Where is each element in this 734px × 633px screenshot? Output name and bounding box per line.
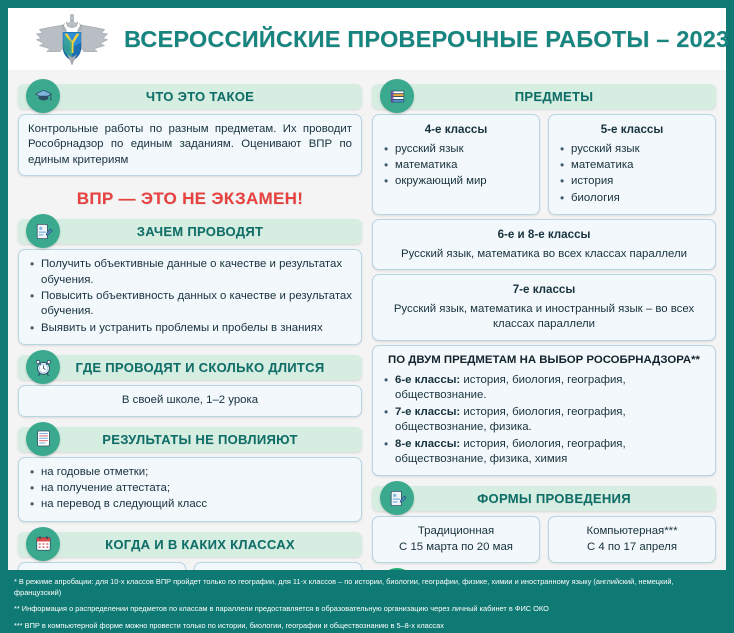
where-text: В своей школе, 1–2 урока (28, 393, 352, 408)
section-title: ЧТО ЭТО ТАКОЕ (120, 89, 260, 104)
section-title: ПРЕДМЕТЫ (489, 89, 600, 104)
list-item: Получить объективные данные о качестве и… (28, 257, 352, 288)
document-pencil-icon (26, 214, 60, 248)
section-subjects: ПРЕДМЕТЫ (372, 84, 716, 109)
forms-cards: Традиционная С 15 марта по 20 мая Компью… (372, 516, 716, 567)
section-title: РЕЗУЛЬТАТЫ НЕ ПОВЛИЯЮТ (76, 432, 304, 447)
list-item: русский язык (558, 142, 706, 157)
what-is-card: Контрольные работы по разным предметам. … (18, 114, 362, 176)
footnote-2: ** Информация о распределении предметов … (14, 604, 720, 615)
form-line2: С 4 по 17 апреля (558, 540, 706, 555)
clipboard-list-icon (26, 422, 60, 456)
list-item: история (558, 174, 706, 189)
grade5-list: русский язык математика история биология (558, 142, 706, 207)
choice-grade: 7-е классы: (395, 406, 460, 418)
choice-list: 6-е классы: история, биология, география… (382, 373, 706, 467)
list-item: биология (558, 191, 706, 206)
poster-header: ВСЕРОССИЙСКИЕ ПРОВЕРОЧНЫЕ РАБОТЫ – 2023 (8, 8, 726, 70)
form-card: Традиционная С 15 марта по 20 мая (372, 516, 540, 563)
poster-root: ВСЕРОССИЙСКИЕ ПРОВЕРОЧНЫЕ РАБОТЫ – 2023 … (0, 0, 734, 633)
list-item: на получение аттестата; (28, 481, 352, 496)
section-why: ЗАЧЕМ ПРОВОДЯТ (18, 219, 362, 244)
footnote-3: *** ВПР в компьютерной форме можно прове… (14, 621, 720, 632)
poster-body: ЧТО ЭТО ТАКОЕ Контрольные работы по разн… (8, 70, 726, 633)
footnotes: * В режиме апробации: для 10-х классов В… (0, 570, 734, 633)
section-when: КОГДА И В КАКИХ КЛАССАХ (18, 532, 362, 557)
grade7-heading: 7-е классы (382, 282, 706, 298)
list-item: математика (382, 158, 530, 173)
choice-grade: 6-е классы: (395, 374, 460, 386)
subjects-grade-cards: 4-е классы русский язык математика окруж… (372, 114, 716, 219)
grade68-text: Русский язык, математика во всех классах… (382, 247, 706, 262)
page-title: ВСЕРОССИЙСКИЕ ПРОВЕРОЧНЫЕ РАБОТЫ – 2023 (124, 26, 729, 53)
list-item: 7-е классы: история, биология, география… (382, 405, 706, 436)
grade68-card: 6-е и 8-е классы Русский язык, математик… (372, 219, 716, 270)
section-forms: ФОРМЫ ПРОВЕДЕНИЯ (372, 486, 716, 511)
section-title: ФОРМЫ ПРОВЕДЕНИЯ (451, 491, 637, 506)
alarm-clock-icon (26, 350, 60, 384)
section-title: ЗАЧЕМ ПРОВОДЯТ (111, 224, 270, 239)
grade7-text: Русский язык, математика и иностранный я… (382, 302, 706, 333)
choice-title: ПО ДВУМ ПРЕДМЕТАМ НА ВЫБОР РОСОБРНАДЗОРА… (382, 353, 706, 368)
section-title: КОГДА И В КАКИХ КЛАССАХ (79, 537, 301, 552)
what-is-text: Контрольные работы по разным предметам. … (28, 122, 352, 168)
list-item: окружающий мир (382, 174, 530, 189)
grade4-card: 4-е классы русский язык математика окруж… (372, 114, 540, 215)
choice-card: ПО ДВУМ ПРЕДМЕТАМ НА ВЫБОР РОСОБРНАДЗОРА… (372, 345, 716, 477)
list-item: на перевод в следующий класс (28, 497, 352, 512)
choice-grade: 8-е классы: (395, 438, 460, 450)
grade7-card: 7-е классы Русский язык, математика и ин… (372, 274, 716, 340)
results-list: на годовые отметки; на получение аттеста… (28, 465, 352, 513)
list-item: 6-е классы: история, биология, география… (382, 373, 706, 404)
form-line2: С 15 марта по 20 мая (382, 540, 530, 555)
poster-inner: ВСЕРОССИЙСКИЕ ПРОВЕРОЧНЫЕ РАБОТЫ – 2023 … (8, 8, 726, 570)
calendar-icon (26, 527, 60, 561)
why-list: Получить объективные данные о качестве и… (28, 257, 352, 336)
section-results: РЕЗУЛЬТАТЫ НЕ ПОВЛИЯЮТ (18, 427, 362, 452)
form-card: Компьютерная*** С 4 по 17 апреля (548, 516, 716, 563)
list-item: русский язык (382, 142, 530, 157)
section-where: ГДЕ ПРОВОДЯТ И СКОЛЬКО ДЛИТСЯ (18, 355, 362, 380)
form-line1: Компьютерная*** (558, 524, 706, 539)
results-card: на годовые отметки; на получение аттеста… (18, 457, 362, 522)
grade68-heading: 6-е и 8-е классы (382, 227, 706, 243)
list-item: Повысить объективность данных о качестве… (28, 289, 352, 320)
list-item: 8-е классы: история, биология, география… (382, 437, 706, 468)
not-exam-banner: ВПР — ЭТО НЕ ЭКЗАМЕН! (18, 180, 362, 213)
list-item: Выявить и устранить проблемы и пробелы в… (28, 321, 352, 336)
grade5-heading: 5-е классы (558, 122, 706, 138)
list-item: математика (558, 158, 706, 173)
section-what-is: ЧТО ЭТО ТАКОЕ (18, 84, 362, 109)
form-line1: Традиционная (382, 524, 530, 539)
books-stack-icon (380, 79, 414, 113)
list-item: на годовые отметки; (28, 465, 352, 480)
document-pencil-icon (380, 481, 414, 515)
grade5-card: 5-е классы русский язык математика истор… (548, 114, 716, 215)
why-card: Получить объективные данные о качестве и… (18, 249, 362, 345)
section-title: ГДЕ ПРОВОДЯТ И СКОЛЬКО ДЛИТСЯ (50, 360, 331, 375)
left-column: ЧТО ЭТО ТАКОЕ Контрольные работы по разн… (18, 78, 362, 633)
rosobrnadzor-eagle-emblem (34, 13, 110, 65)
footnote-1: * В режиме апробации: для 10-х классов В… (14, 577, 720, 598)
grade4-list: русский язык математика окружающий мир (382, 142, 530, 190)
where-card: В своей школе, 1–2 урока (18, 385, 362, 416)
graduation-cap-icon (26, 79, 60, 113)
right-column: ПРЕДМЕТЫ 4-е классы русский язык математ… (372, 78, 716, 633)
grade4-heading: 4-е классы (382, 122, 530, 138)
